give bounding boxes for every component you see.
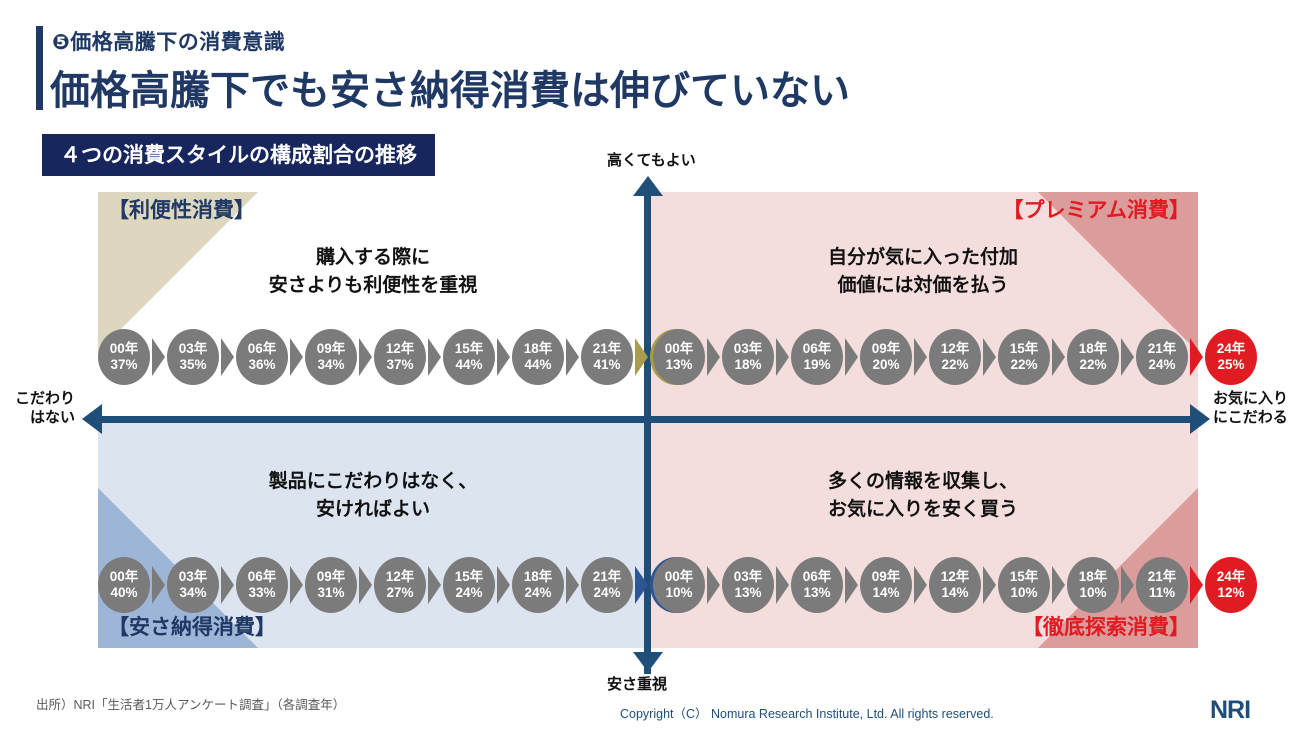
data-node: 24年12% (1205, 557, 1257, 613)
chevron-connector-icon (497, 338, 510, 376)
desc-line-1: 自分が気に入った付加 (828, 247, 1018, 268)
slide-root: ❺価格高騰下の消費意識 価格高騰下でも安さ納得消費は伸びていない ４つの消費スタ… (0, 0, 1300, 731)
data-node-percent: 12% (1217, 585, 1244, 601)
chevron-connector-icon (152, 566, 165, 604)
data-node-year: 00年 (110, 341, 139, 357)
horizontal-axis (102, 416, 1192, 423)
chevron-connector-icon (1190, 338, 1203, 376)
data-node-percent: 22% (1010, 357, 1037, 373)
data-node-year: 06年 (248, 341, 277, 357)
data-node: 18年44% (512, 329, 564, 385)
data-node-percent: 31% (317, 585, 344, 601)
data-node-percent: 14% (941, 585, 968, 601)
source-note: 出所）NRI「生活者1万人アンケート調査」（各調査年） (36, 694, 345, 713)
chevron-connector-icon (290, 566, 303, 604)
data-node: 03年13% (722, 557, 774, 613)
data-node-percent: 44% (524, 357, 551, 373)
data-node: 03年34% (167, 557, 219, 613)
desc-line-2: お気に入りを安く買う (828, 499, 1018, 520)
quadrant-label-bottom-right: 【徹底探索消費】 (1022, 611, 1190, 641)
data-node-year: 09年 (317, 341, 346, 357)
data-node-percent: 34% (317, 357, 344, 373)
data-node-year: 06年 (803, 569, 832, 585)
data-node: 15年24% (443, 557, 495, 613)
chevron-connector-icon (1052, 338, 1065, 376)
arrow-left-icon (82, 404, 102, 434)
data-node-percent: 34% (179, 585, 206, 601)
chevron-connector-icon (290, 338, 303, 376)
chevron-connector-icon (635, 338, 648, 376)
quadrant-label-top-right: 【プレミアム消費】 (1002, 194, 1190, 224)
data-node: 09年20% (860, 329, 912, 385)
data-node-year: 15年 (1010, 569, 1039, 585)
data-node-percent: 13% (803, 585, 830, 601)
data-node-percent: 44% (455, 357, 482, 373)
data-node-year: 24年 (1217, 569, 1246, 585)
desc-line-2: 安さよりも利便性を重視 (269, 275, 478, 296)
data-node-percent: 18% (734, 357, 761, 373)
quadrant-desc-top-left: 購入する際に 安さよりも利便性を重視 (188, 244, 558, 299)
data-node-year: 00年 (665, 569, 694, 585)
data-node-percent: 40% (110, 585, 137, 601)
data-node-percent: 10% (1010, 585, 1037, 601)
data-node: 09年34% (305, 329, 357, 385)
slide-headline: 価格高騰下でも安さ納得消費は伸びていない (50, 58, 850, 116)
chevron-connector-icon (635, 566, 648, 604)
data-node: 06年13% (791, 557, 843, 613)
data-node-year: 03年 (179, 569, 208, 585)
data-node-year: 12年 (386, 341, 415, 357)
axis-label-left: こだわり はない (5, 390, 75, 428)
series-bottom-right: 00年10%03年13%06年13%09年14%12年14%15年10%18年1… (653, 557, 1257, 613)
data-node-year: 03年 (734, 341, 763, 357)
data-node-year: 15年 (455, 341, 484, 357)
data-node-year: 12年 (386, 569, 415, 585)
data-node: 21年41% (581, 329, 633, 385)
data-node: 12年14% (929, 557, 981, 613)
data-node-percent: 35% (179, 357, 206, 373)
data-node: 06年36% (236, 329, 288, 385)
data-node: 21年24% (581, 557, 633, 613)
data-node: 15年44% (443, 329, 495, 385)
chevron-connector-icon (1121, 566, 1134, 604)
data-node: 15年22% (998, 329, 1050, 385)
data-node-percent: 24% (1148, 357, 1175, 373)
data-node: 15年10% (998, 557, 1050, 613)
data-node-year: 03年 (179, 341, 208, 357)
desc-line-2: 価値には対価を払う (837, 275, 1008, 296)
chevron-connector-icon (983, 338, 996, 376)
data-node: 12年37% (374, 329, 426, 385)
data-node-percent: 11% (1149, 585, 1175, 601)
data-node-year: 24年 (1217, 341, 1246, 357)
chevron-connector-icon (776, 566, 789, 604)
data-node-year: 21年 (1148, 569, 1177, 585)
chevron-connector-icon (983, 566, 996, 604)
data-node-year: 09年 (872, 569, 901, 585)
data-node-year: 18年 (524, 341, 553, 357)
quadrant-desc-bottom-right: 多くの情報を収集し、 お気に入りを安く買う (738, 468, 1108, 523)
data-node-year: 12年 (941, 341, 970, 357)
chevron-connector-icon (845, 566, 858, 604)
data-node: 18年24% (512, 557, 564, 613)
data-node-percent: 33% (248, 585, 275, 601)
data-node: 00年10% (653, 557, 705, 613)
data-node: 06年19% (791, 329, 843, 385)
chevron-connector-icon (221, 566, 234, 604)
chevron-connector-icon (776, 338, 789, 376)
data-node-percent: 14% (872, 585, 899, 601)
axis-label-top: 高くてもよい (607, 152, 696, 171)
data-node-year: 06年 (803, 341, 832, 357)
data-node-percent: 37% (386, 357, 413, 373)
data-node: 21年11% (1136, 557, 1188, 613)
arrow-down-icon (633, 652, 663, 672)
data-node-year: 06年 (248, 569, 277, 585)
data-node-percent: 13% (734, 585, 761, 601)
series-bottom-left: 00年40%03年34%06年33%09年31%12年27%15年24%18年2… (98, 557, 702, 613)
data-node-year: 18年 (1079, 341, 1108, 357)
arrow-right-icon (1190, 404, 1210, 434)
data-node-percent: 41% (593, 357, 620, 373)
data-node-percent: 13% (665, 357, 692, 373)
data-node-year: 00年 (665, 341, 694, 357)
data-node-year: 09年 (872, 341, 901, 357)
data-node: 06年33% (236, 557, 288, 613)
title-accent-bar (36, 26, 43, 110)
quadrant-chart: 高くてもよい 安さ重視 こだわり はない お気に入り にこだわる 【利便性消費】… (0, 168, 1300, 678)
data-node-percent: 10% (665, 585, 692, 601)
chevron-connector-icon (914, 338, 927, 376)
data-node-percent: 25% (1217, 357, 1244, 373)
axis-label-right-line1: お気に入り (1213, 390, 1288, 407)
chevron-connector-icon (845, 338, 858, 376)
quadrant-label-top-left: 【利便性消費】 (108, 194, 255, 224)
desc-line-1: 購入する際に (316, 247, 430, 268)
quadrant-desc-top-right: 自分が気に入った付加 価値には対価を払う (738, 244, 1108, 299)
quadrant-label-bottom-left: 【安さ納得消費】 (108, 611, 276, 641)
series-top-right: 00年13%03年18%06年19%09年20%12年22%15年22%18年2… (653, 329, 1257, 385)
data-node: 00年37% (98, 329, 150, 385)
data-node: 18年10% (1067, 557, 1119, 613)
data-node-percent: 27% (386, 585, 413, 601)
data-node-year: 15年 (1010, 341, 1039, 357)
data-node: 12年27% (374, 557, 426, 613)
data-node-percent: 22% (941, 357, 968, 373)
data-node-year: 21年 (593, 341, 622, 357)
data-node: 24年25% (1205, 329, 1257, 385)
slide-eyebrow: ❺価格高騰下の消費意識 (52, 26, 285, 56)
data-node: 18年22% (1067, 329, 1119, 385)
data-node: 09年31% (305, 557, 357, 613)
chevron-connector-icon (707, 338, 720, 376)
chevron-connector-icon (221, 338, 234, 376)
data-node-year: 09年 (317, 569, 346, 585)
data-node-percent: 22% (1079, 357, 1106, 373)
chevron-connector-icon (152, 338, 165, 376)
data-node-percent: 37% (110, 357, 137, 373)
data-node-year: 12年 (941, 569, 970, 585)
data-node: 00年13% (653, 329, 705, 385)
chevron-connector-icon (566, 566, 579, 604)
chevron-connector-icon (359, 338, 372, 376)
data-node-year: 18年 (524, 569, 553, 585)
chevron-connector-icon (1121, 338, 1134, 376)
data-node: 12年22% (929, 329, 981, 385)
chevron-connector-icon (1052, 566, 1065, 604)
data-node-percent: 20% (872, 357, 899, 373)
data-node-year: 21年 (593, 569, 622, 585)
data-node: 03年35% (167, 329, 219, 385)
data-node-percent: 24% (593, 585, 620, 601)
axis-label-left-line1: こだわり (15, 390, 75, 407)
data-node-percent: 10% (1079, 585, 1106, 601)
data-node-year: 03年 (734, 569, 763, 585)
chevron-connector-icon (497, 566, 510, 604)
copyright-note: Copyright（C） Nomura Research Institute, … (620, 703, 994, 722)
nri-logo: NRI (1210, 696, 1250, 725)
quadrant-desc-bottom-left: 製品にこだわりはなく、 安ければよい (188, 468, 558, 523)
data-node-year: 21年 (1148, 341, 1177, 357)
chevron-connector-icon (428, 338, 441, 376)
axis-label-left-line2: はない (30, 409, 75, 426)
chevron-connector-icon (707, 566, 720, 604)
axis-label-bottom: 安さ重視 (607, 676, 667, 695)
axis-label-right: お気に入り にこだわる (1213, 390, 1297, 428)
data-node: 09年14% (860, 557, 912, 613)
data-node-year: 15年 (455, 569, 484, 585)
chevron-connector-icon (359, 566, 372, 604)
data-node: 03年18% (722, 329, 774, 385)
data-node: 00年40% (98, 557, 150, 613)
desc-line-2: 安ければよい (316, 499, 430, 520)
series-top-left: 00年37%03年35%06年36%09年34%12年37%15年44%18年4… (98, 329, 702, 385)
axis-label-right-line2: にこだわる (1213, 409, 1288, 426)
chevron-connector-icon (1190, 566, 1203, 604)
data-node-percent: 19% (803, 357, 830, 373)
data-node-percent: 24% (455, 585, 482, 601)
chevron-connector-icon (428, 566, 441, 604)
data-node-year: 00年 (110, 569, 139, 585)
desc-line-1: 製品にこだわりはなく、 (269, 471, 478, 492)
chevron-connector-icon (566, 338, 579, 376)
desc-line-1: 多くの情報を収集し、 (828, 471, 1018, 492)
data-node: 21年24% (1136, 329, 1188, 385)
data-node-percent: 36% (248, 357, 275, 373)
data-node-percent: 24% (524, 585, 551, 601)
data-node-year: 18年 (1079, 569, 1108, 585)
chevron-connector-icon (914, 566, 927, 604)
arrow-up-icon (633, 176, 663, 196)
